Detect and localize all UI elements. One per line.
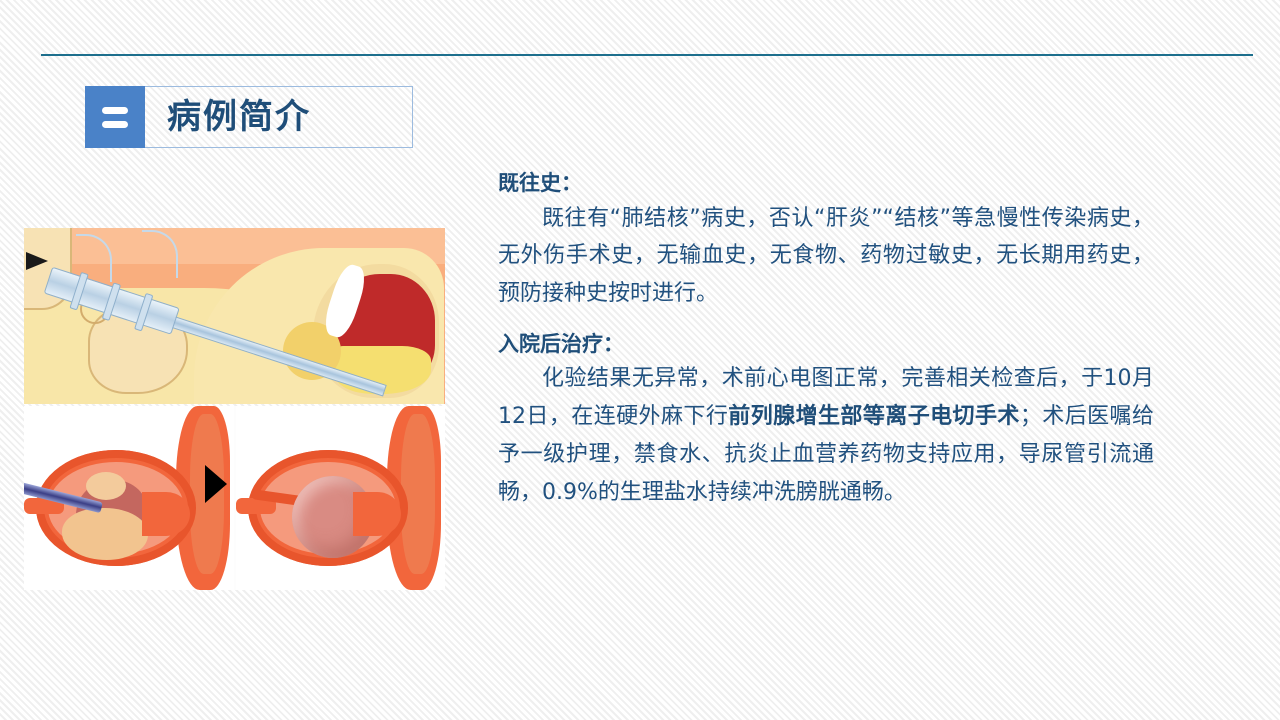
figure-bladder-before-after: [24, 406, 445, 590]
bladder-panel-after: [234, 406, 446, 590]
section-post-admission-treatment: 入院后治疗： 化验结果无异常，术前心电图正常，完善相关检查后，于10月12日，在…: [498, 329, 1154, 512]
slide-root: 病例简介: [0, 0, 1280, 720]
section-body-treatment: 化验结果无异常，术前心电图正常，完善相关检查后，于10月12日，在连硬外麻下行前…: [498, 360, 1154, 511]
after-bladder-neck-fan: [353, 492, 401, 536]
slide-title-block: 病例简介: [85, 86, 413, 148]
before-bladder-neck-fan: [142, 492, 190, 536]
figure-turp-resectoscope: [24, 228, 445, 404]
section-past-history: 既往史： 既往有“肺结核”病史，否认“肝炎”“结核”等急慢性传染病史，无外伤手术…: [498, 168, 1154, 313]
badge-glyph-bar-top: [102, 107, 128, 114]
section-heading-treatment: 入院后治疗：: [498, 329, 1154, 361]
after-rectum-inner: [401, 414, 435, 574]
bladder-panel-before: [24, 406, 234, 590]
section-body-past-history: 既往有“肺结核”病史，否认“肝炎”“结核”等急慢性传染病史，无外伤手术史，无输血…: [498, 200, 1154, 313]
past-history-text: 既往有“肺结核”病史，否认“肝炎”“结核”等急慢性传染病史，无外伤手术史，无输血…: [498, 206, 1154, 307]
section-heading-past-history: 既往史：: [498, 168, 1154, 200]
header-divider-line: [41, 54, 1253, 56]
treatment-procedure-name: 前列腺增生部等离子电切手术: [728, 404, 1020, 429]
section-number-badge: [85, 86, 145, 148]
turp-scope-ring-2: [102, 282, 121, 321]
badge-glyph-bar-bottom: [102, 121, 128, 128]
before-hyperplastic-tissue-upper: [86, 472, 126, 500]
arrow-head: [205, 465, 227, 503]
slide-title-box: 病例简介: [145, 86, 413, 148]
figure-column: [24, 228, 445, 590]
before-hyperplastic-tissue: [62, 508, 148, 560]
page-title: 病例简介: [167, 100, 311, 134]
turp-scope-ring-3: [134, 293, 153, 332]
content-column: 既往史： 既往有“肺结核”病史，否认“肝炎”“结核”等急慢性传染病史，无外伤手术…: [498, 168, 1154, 512]
turp-anatomy-cavity: [26, 252, 48, 270]
